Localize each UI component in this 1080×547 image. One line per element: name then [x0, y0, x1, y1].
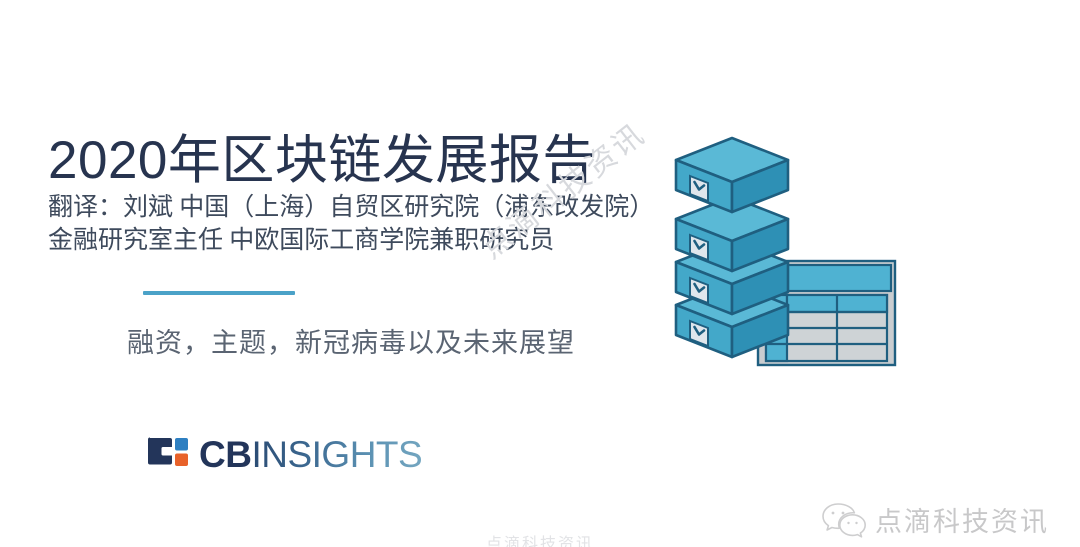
translator-credit: 翻译：刘斌 中国（上海）自贸区研究院（浦东改发院） 金融研究室主任 中欧国际工商… — [48, 191, 688, 257]
cb-insights-bold-text: CB — [199, 436, 251, 473]
corner-watermark-text: 点滴科技资讯 — [875, 500, 1049, 539]
blockchain-illustration — [672, 128, 902, 373]
cb-insights-wordmark: CBINSIGHTS — [199, 436, 422, 473]
cb-insights-logo: CBINSIGHTS — [146, 436, 422, 473]
subtitle: 融资，主题，新冠病毒以及未来展望 — [127, 326, 575, 361]
page-title: 2020年区块链发展报告 — [48, 132, 688, 189]
title-block: 2020年区块链发展报告 翻译：刘斌 中国（上海）自贸区研究院（浦东改发院） 金… — [48, 132, 688, 257]
translator-line-1: 翻译：刘斌 中国（上海）自贸区研究院（浦东改发院） — [48, 191, 688, 224]
cb-insights-logo-mark — [146, 436, 190, 473]
title-divider-rule — [143, 291, 295, 295]
wechat-icon — [822, 502, 866, 538]
presentation-slide: 2020年区块链发展报告 翻译：刘斌 中国（上海）自贸区研究院（浦东改发院） 金… — [0, 0, 1080, 547]
translator-line-2: 金融研究室主任 中欧国际工商学院兼职研究员 — [48, 224, 688, 257]
block-1 — [676, 138, 788, 212]
corner-watermark: 点滴科技资讯 — [822, 500, 1049, 539]
bottom-center-watermark: 点滴科技资讯 — [0, 530, 1080, 547]
cb-insights-light-text: INSIGHTS — [251, 436, 422, 473]
